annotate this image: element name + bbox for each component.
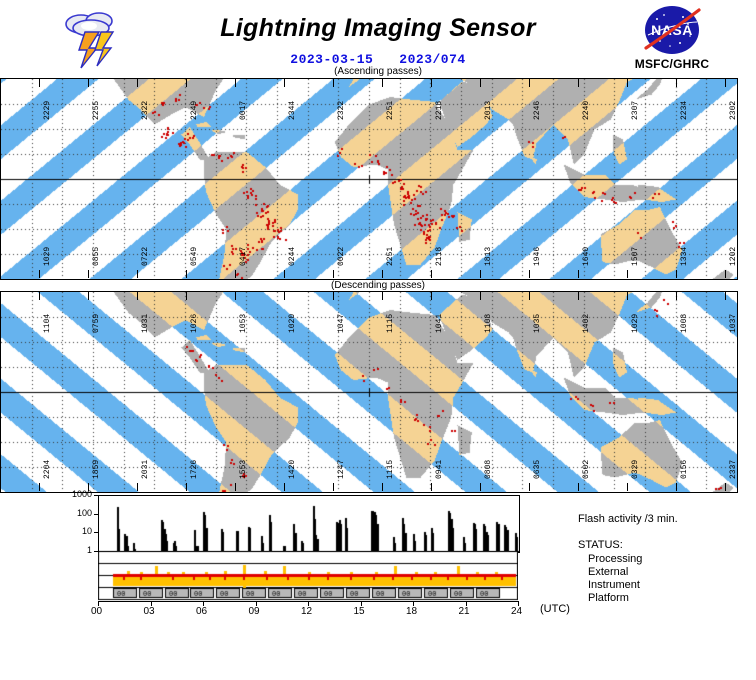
orbit-tick-top (284, 292, 285, 300)
orbit-tick-bottom (578, 270, 579, 278)
orbit-time-label-top: 2234 (680, 101, 689, 120)
x-axis-tick-label: 24 (511, 606, 522, 617)
orbit-time-label-bottom: 0417 (239, 247, 248, 266)
orbit-time-label-bottom: 2251 (386, 247, 395, 266)
orbit-time-label-top: 1402 (582, 314, 591, 333)
orbit-tick-top (529, 79, 530, 87)
orbit-tick-top (725, 292, 726, 300)
flash-chart-ytick-mark (94, 514, 99, 515)
x-axis-tick-label: 18 (406, 606, 417, 617)
orbit-time-label-top: 2240 (582, 101, 591, 120)
orbit-tick-bottom (186, 270, 187, 278)
orbit-time-label-bottom: 1859 (92, 460, 101, 479)
orbit-time-label-bottom: 1946 (533, 247, 542, 266)
orbit-tick-top (627, 292, 628, 300)
orbit-tick-bottom (431, 270, 432, 278)
status-label-external: External (588, 566, 628, 578)
orbit-tick-bottom (725, 270, 726, 278)
flash-chart-ytick: 10 (56, 526, 92, 536)
orbit-tick-top (88, 79, 89, 87)
orbit-time-label-top: 0017 (239, 101, 248, 120)
orbit-time-label-top: 1053 (239, 314, 248, 333)
orbit-tick-bottom (431, 483, 432, 491)
orbit-tick-top (480, 292, 481, 300)
orbit-time-label-top: 1037 (729, 314, 738, 333)
orbit-time-label-top: 2302 (729, 101, 738, 120)
flash-activity-legend: Flash activity /3 min. (578, 513, 678, 525)
orbit-time-label-bottom: 0502 (582, 460, 591, 479)
orbit-tick-bottom (39, 270, 40, 278)
orbit-time-label-bottom: 1507 (631, 247, 640, 266)
orbit-time-label-bottom: 1247 (337, 460, 346, 479)
orbit-time-label-bottom: 1029 (43, 247, 52, 266)
x-axis-tick-label: 21 (459, 606, 470, 617)
map-descending-canvas (0, 291, 738, 493)
orbit-tick-top (676, 292, 677, 300)
x-axis-tick-label: 00 (91, 606, 102, 617)
nasa-meatball-logo: NASA (640, 4, 704, 56)
orbit-tick-top (382, 79, 383, 87)
orbit-time-label-bottom: 1640 (582, 247, 591, 266)
orbit-tick-bottom (480, 483, 481, 491)
orbit-tick-bottom (676, 483, 677, 491)
orbit-time-label-bottom: 2204 (43, 460, 52, 479)
orbit-tick-bottom (88, 270, 89, 278)
orbit-tick-top (88, 292, 89, 300)
orbit-tick-top (333, 292, 334, 300)
flash-chart-ytick-mark (94, 551, 99, 552)
orbit-time-label-top: 2307 (631, 101, 640, 120)
orbit-time-label-top: 2013 (484, 101, 493, 120)
flash-chart-ytick: 100 (56, 508, 92, 518)
orbit-time-label-bottom: 0722 (141, 247, 150, 266)
utc-axis-label: (UTC) (540, 603, 570, 615)
orbit-tick-top (39, 79, 40, 87)
orbit-time-label-top: 1020 (288, 314, 297, 333)
status-bars-canvas (98, 551, 518, 601)
orbit-tick-top (529, 292, 530, 300)
orbit-time-label-top: 1031 (141, 314, 150, 333)
orbit-time-label-bottom: 0941 (435, 460, 444, 479)
orbit-time-label-bottom: 1813 (484, 247, 493, 266)
orbit-time-label-top: 1008 (680, 314, 689, 333)
flash-chart-ytick: 1000 (56, 489, 92, 499)
flash-chart-ytick-mark (94, 532, 99, 533)
orbit-time-label-top: 2322 (337, 101, 346, 120)
nasa-logo-group: NASA MSFC/GHRC (624, 4, 720, 71)
orbit-time-label-bottom: 2118 (435, 247, 444, 266)
orbit-tick-bottom (235, 270, 236, 278)
orbit-time-label-top: 2229 (43, 101, 52, 120)
orbit-time-label-top: 2218 (435, 101, 444, 120)
flash-chart-ytick-mark (94, 495, 99, 496)
orbit-time-label-top: 2255 (92, 101, 101, 120)
orbit-tick-top (39, 292, 40, 300)
status-label-instrument: Instrument (588, 579, 640, 591)
orbit-tick-bottom (284, 270, 285, 278)
orbit-time-label-bottom: 0329 (631, 460, 640, 479)
map-ascending: 2229102922550855232207222249054900170417… (0, 78, 756, 280)
orbit-time-label-top: 1115 (386, 314, 395, 333)
orbit-tick-top (284, 79, 285, 87)
orbit-tick-bottom (627, 270, 628, 278)
orbit-tick-top (137, 292, 138, 300)
x-axis-tick-label: 12 (301, 606, 312, 617)
orbit-time-label-bottom: 1420 (288, 460, 297, 479)
orbit-tick-top (578, 292, 579, 300)
orbit-time-label-bottom: 0549 (190, 247, 199, 266)
orbit-time-label-bottom: 1115 (386, 460, 395, 479)
orbit-time-label-bottom: 1553 (239, 460, 248, 479)
x-axis-tick-label: 06 (196, 606, 207, 617)
flash-chart-ytick: 1 (56, 545, 92, 555)
orbit-tick-bottom (39, 483, 40, 491)
date-doy: 2023/074 (399, 52, 465, 67)
date-iso: 2023-03-15 (290, 52, 373, 67)
orbit-tick-top (676, 79, 677, 87)
orbit-time-label-top: 0759 (92, 314, 101, 333)
orbit-tick-top (137, 79, 138, 87)
page-header: Lightning Imaging Sensor 2023-03-152023/… (0, 0, 756, 78)
status-heading: STATUS: (578, 539, 623, 551)
orbit-time-label-bottom: 0855 (92, 247, 101, 266)
orbit-tick-bottom (333, 270, 334, 278)
orbit-tick-top (186, 79, 187, 87)
orbit-tick-bottom (382, 483, 383, 491)
orbit-tick-bottom (235, 483, 236, 491)
orbit-tick-top (480, 79, 481, 87)
orbit-tick-top (431, 292, 432, 300)
orbit-time-label-bottom: 0156 (680, 460, 689, 479)
x-axis-tick-label: 03 (144, 606, 155, 617)
map-descending: 1104220407591859103120311026172610531553… (0, 291, 756, 493)
descending-caption: (Descending passes) (0, 280, 756, 291)
orbit-tick-bottom (137, 483, 138, 491)
orbit-tick-top (235, 292, 236, 300)
orbit-time-label-top: 1041 (435, 314, 444, 333)
orbit-tick-bottom (627, 483, 628, 491)
orbit-time-label-bottom: 2031 (141, 460, 150, 479)
orbit-tick-bottom (284, 483, 285, 491)
orbit-tick-top (382, 292, 383, 300)
orbit-time-label-top: 2251 (386, 101, 395, 120)
orbit-tick-bottom (725, 483, 726, 491)
orbit-time-label-top: 1104 (43, 314, 52, 333)
orbit-tick-bottom (382, 270, 383, 278)
orbit-tick-top (578, 79, 579, 87)
orbit-time-label-top: 1026 (190, 314, 199, 333)
x-axis-tick-label: 15 (354, 606, 365, 617)
orbit-tick-bottom (676, 270, 677, 278)
orbit-tick-bottom (529, 483, 530, 491)
orbit-time-label-bottom: 0022 (337, 247, 346, 266)
orbit-tick-top (235, 79, 236, 87)
orbit-time-label-bottom: 0808 (484, 460, 493, 479)
nasa-center-label: MSFC/GHRC (624, 57, 720, 71)
orbit-tick-top (186, 292, 187, 300)
orbit-time-label-bottom: 2337 (729, 460, 738, 479)
orbit-time-label-top: 1047 (337, 314, 346, 333)
orbit-time-label-top: 2344 (288, 101, 297, 120)
x-axis-tick-label: 09 (249, 606, 260, 617)
orbit-tick-top (431, 79, 432, 87)
orbit-time-label-bottom: 0244 (288, 247, 297, 266)
status-label-processing: Processing (588, 553, 642, 565)
orbit-tick-bottom (333, 483, 334, 491)
orbit-tick-bottom (186, 483, 187, 491)
flash-activity-panel: Flash activity /3 min. STATUS: Processin… (0, 493, 756, 619)
orbit-time-label-top: 2246 (533, 101, 542, 120)
flash-activity-chart (98, 495, 520, 553)
orbit-tick-bottom (578, 483, 579, 491)
orbit-time-label-top: 1035 (533, 314, 542, 333)
orbit-tick-bottom (137, 270, 138, 278)
orbit-time-label-bottom: 1726 (190, 460, 199, 479)
status-label-platform: Platform (588, 592, 629, 604)
orbit-time-label-top: 2322 (141, 101, 150, 120)
orbit-tick-top (333, 79, 334, 87)
orbit-time-label-bottom: 1334 (680, 247, 689, 266)
orbit-time-label-top: 1029 (631, 314, 640, 333)
orbit-tick-top (627, 79, 628, 87)
orbit-time-label-top: 2249 (190, 101, 199, 120)
orbit-tick-bottom (480, 270, 481, 278)
map-ascending-canvas (0, 78, 738, 280)
orbit-tick-top (725, 79, 726, 87)
orbit-time-label-bottom: 0635 (533, 460, 542, 479)
orbit-time-label-top: 1108 (484, 314, 493, 333)
orbit-tick-bottom (529, 270, 530, 278)
orbit-time-label-bottom: 1202 (729, 247, 738, 266)
